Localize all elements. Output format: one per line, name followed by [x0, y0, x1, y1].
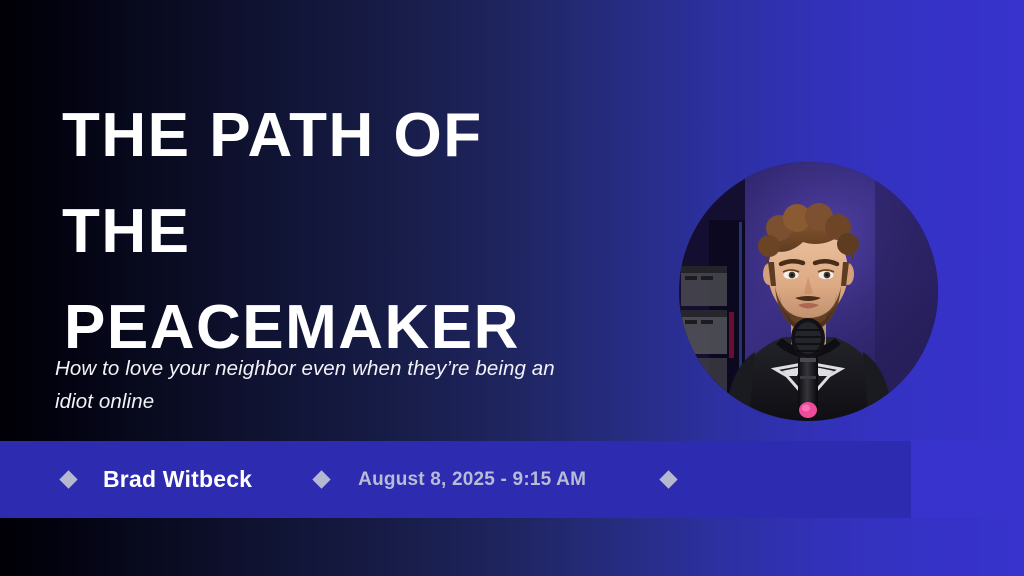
- diamond-icon-3: [659, 470, 677, 488]
- slide-subtitle: How to love your neighbor even when they…: [55, 352, 595, 418]
- speaker-name: Brad Witbeck: [103, 466, 252, 493]
- page-title: THE PATH OF THE PEACEMAKER: [62, 88, 662, 376]
- title-line-2: THE: [62, 184, 662, 280]
- diamond-icon-2: [312, 470, 330, 488]
- footer-meta-bar: Brad Witbeck August 8, 2025 - 9:15 AM: [0, 441, 911, 518]
- title-line-1: THE PATH OF: [62, 88, 662, 184]
- session-datetime: August 8, 2025 - 9:15 AM: [358, 469, 586, 491]
- speaker-portrait: [679, 162, 938, 421]
- title-slide: THE PATH OF THE PEACEMAKER How to love y…: [0, 0, 1024, 576]
- diamond-icon-1: [59, 470, 77, 488]
